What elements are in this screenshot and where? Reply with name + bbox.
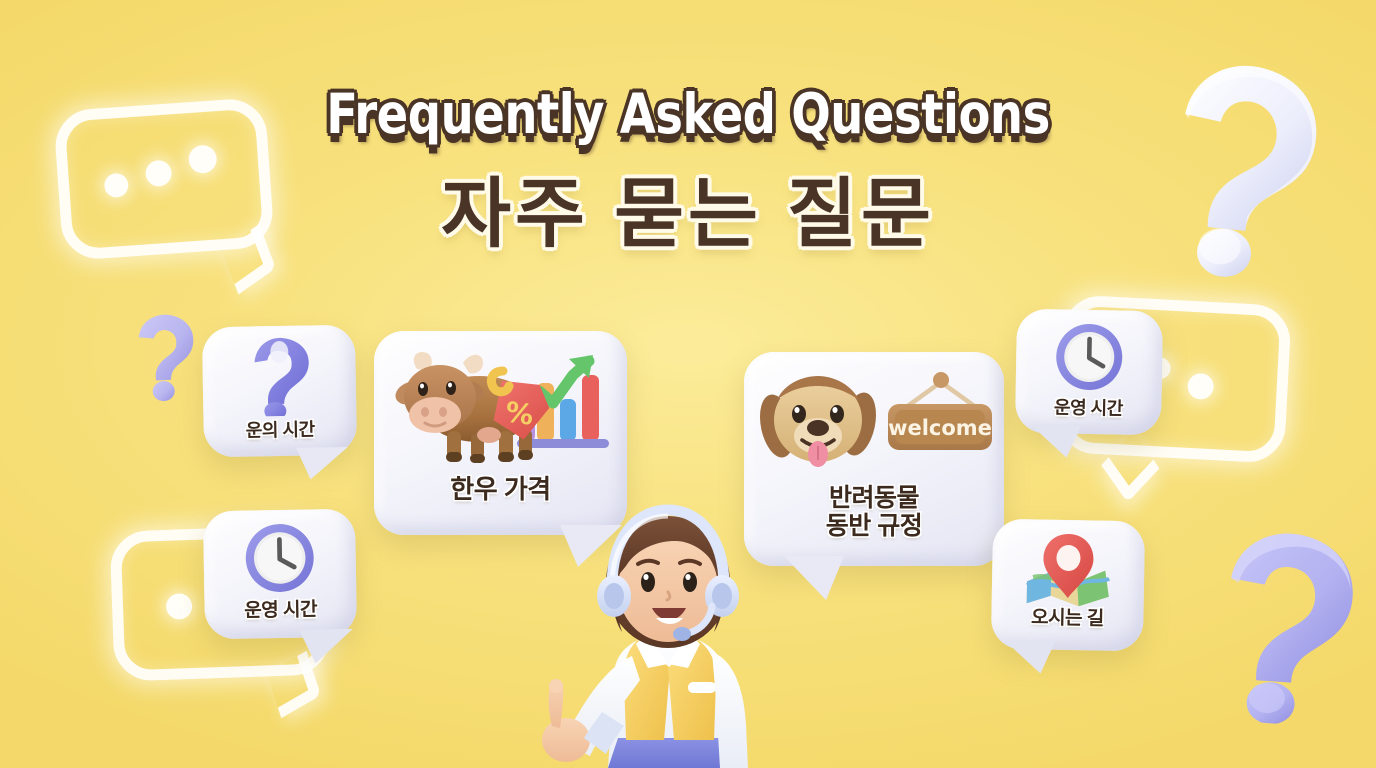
card-tail — [1024, 425, 1081, 460]
faq-card-label: 운영 시간 — [244, 599, 317, 622]
svg-text:welcome: welcome — [888, 416, 992, 440]
clock-icon — [1054, 321, 1125, 392]
question-mark-icon-left-small — [126, 310, 205, 406]
card-tail — [998, 641, 1055, 676]
faq-card-directions[interactable]: 오시는 길 — [991, 519, 1145, 652]
card-tail — [299, 629, 358, 666]
cow-price-chart-icon: % — [387, 347, 615, 469]
faq-card-unui-sigan[interactable]: 운의 시간 — [202, 325, 357, 458]
faq-card-label: 운의 시간 — [246, 419, 315, 440]
clock-icon — [243, 521, 316, 594]
faq-card-label: 반려동물 동반 규정 — [826, 484, 922, 540]
page-title-block: Frequently Asked Questions 자주 묻는 질문 — [0, 82, 1376, 262]
card-tail — [296, 447, 353, 482]
faq-card-hours-right[interactable]: 운영 시간 — [1015, 309, 1163, 436]
faq-card-label: 운영 시간 — [1054, 397, 1123, 418]
question-mark-icon-bottom-right — [1191, 522, 1376, 730]
map-pin-icon — [1019, 529, 1118, 607]
question-mark-3d-icon — [236, 335, 323, 416]
dog-welcome-sign-icon: welcome — [755, 370, 993, 474]
customer-service-agent-character — [498, 500, 838, 768]
page-title-english: Frequently Asked Questions — [41, 82, 1334, 146]
faq-card-label: 오시는 길 — [1031, 607, 1104, 630]
faq-card-hours-left[interactable]: 운영 시간 — [203, 509, 357, 640]
page-title-korean: 자주 묻는 질문 — [0, 152, 1376, 262]
faq-poster-stage: Frequently Asked Questions 자주 묻는 질문 운의 시… — [0, 0, 1376, 768]
svg-text:%: % — [503, 395, 535, 432]
